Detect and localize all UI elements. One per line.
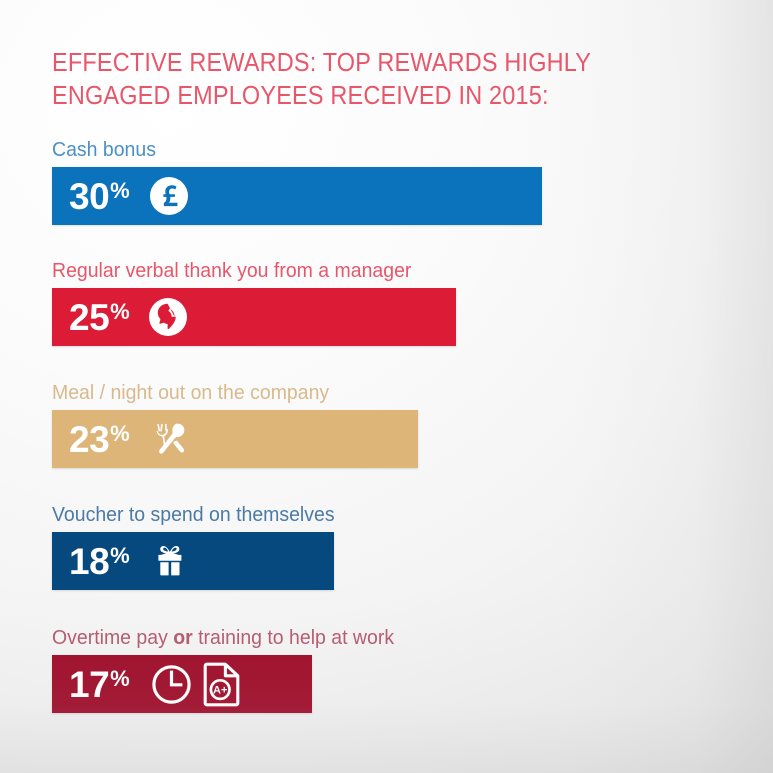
bar-value-number: 23 xyxy=(69,421,109,458)
fork-and-spoon-icon xyxy=(149,419,189,459)
clock-icon xyxy=(149,662,194,707)
bar-value-number: 25 xyxy=(69,299,109,336)
bar-label: Regular verbal thank you from a manager xyxy=(52,259,411,283)
bar-row: Regular verbal thank you from a manager2… xyxy=(52,288,456,346)
bar-value: 18% xyxy=(69,543,129,580)
bar-value-number: 18 xyxy=(69,543,109,580)
bar-icons xyxy=(149,541,191,581)
bar-row: Voucher to spend on themselves18% xyxy=(52,532,334,590)
bar-value: 17% xyxy=(69,666,129,703)
bar-label: Cash bonus xyxy=(52,138,156,162)
pound-coin-icon xyxy=(149,176,189,216)
bar-icons: A+ xyxy=(149,661,244,707)
percent-symbol: % xyxy=(110,180,129,202)
bar: 25% xyxy=(52,288,456,346)
bar-row: Overtime pay or training to help at work… xyxy=(52,655,312,713)
bar-chart: Cash bonus30% Regular verbal thank you f… xyxy=(0,0,773,773)
bar-icons xyxy=(149,419,189,459)
percent-symbol: % xyxy=(110,301,129,323)
bar-label: Meal / night out on the company xyxy=(52,381,329,405)
bar-icons xyxy=(149,176,189,216)
bar-value: 23% xyxy=(69,421,129,458)
bar-value: 30% xyxy=(69,178,129,215)
percent-symbol: % xyxy=(110,668,129,690)
bar-label: Voucher to spend on themselves xyxy=(52,503,335,527)
bar: 30% xyxy=(52,167,542,225)
certificate-a-plus-icon: A+ xyxy=(202,661,244,707)
svg-text:A+: A+ xyxy=(213,684,227,696)
percent-symbol: % xyxy=(110,423,129,445)
bar-icons xyxy=(149,297,191,337)
bar: 23% xyxy=(52,410,418,468)
bar-row: Cash bonus30% xyxy=(52,167,542,225)
bar: 17% A+ xyxy=(52,655,312,713)
bar-value-number: 30 xyxy=(69,178,109,215)
bar-value-number: 17 xyxy=(69,666,109,703)
bar-row: Meal / night out on the company23% xyxy=(52,410,418,468)
percent-symbol: % xyxy=(110,545,129,567)
speaking-head-icon xyxy=(149,297,191,337)
bar-label: Overtime pay or training to help at work xyxy=(52,626,394,650)
infographic-canvas: EFFECTIVE REWARDS: TOP REWARDS HIGHLY EN… xyxy=(0,0,773,773)
gift-box-icon xyxy=(149,541,191,581)
bar-value: 25% xyxy=(69,299,129,336)
bar: 18% xyxy=(52,532,334,590)
